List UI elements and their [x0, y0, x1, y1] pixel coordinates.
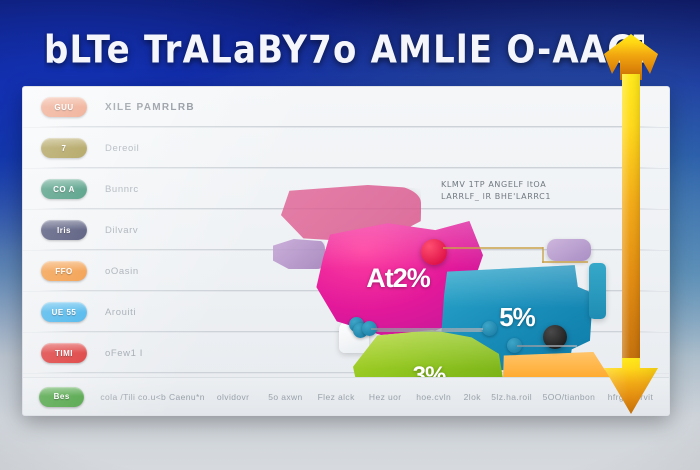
list-item-label: Arouiti — [105, 307, 136, 318]
connector-line — [363, 330, 483, 332]
row-badge-icon: Iris — [41, 220, 87, 240]
crimson-dot-marker — [421, 239, 447, 265]
footer-cell: 5o axwn — [268, 392, 317, 402]
footer-cell: hoe.cvln — [416, 392, 463, 402]
list-item-label: oFew1 I — [105, 348, 143, 359]
footer-cell: cola /Tili co.u<b Caenu*n — [100, 392, 216, 402]
blob-value-teal: 5% — [499, 302, 535, 333]
annotation-line-2: LARRLF_ lR BHE'LARRC1 — [441, 191, 611, 203]
footer-cell: 5lz.ha.roil — [491, 392, 542, 402]
card-footer: Bes cola /Tili co.u<b Caenu*n olvidovr 5… — [23, 377, 669, 415]
connector-line — [443, 247, 543, 249]
footer-cell: 5OO/tianbon — [543, 392, 608, 402]
list-item-label: Bunnrc — [105, 184, 139, 195]
row-badge-icon: FFO — [41, 261, 87, 281]
list-item-label: oOasin — [105, 266, 139, 277]
row-badge-icon: CO A — [41, 179, 87, 199]
main-card-panel: GUU XILE PAMRLRB 7 Dereoil CO A Bunnrc I… — [22, 86, 670, 416]
footer-cell: Hez uor — [369, 392, 416, 402]
blob-value-pink: At2% — [366, 263, 430, 294]
row-badge-icon: GUU — [41, 97, 87, 117]
row-badge-icon: TIMI — [41, 343, 87, 363]
row-divider — [37, 126, 659, 127]
lavender-shape-left — [273, 239, 325, 269]
connector-line — [542, 261, 588, 263]
row-badge-icon: UE 55 — [41, 302, 87, 322]
footer-cell: hfrgn rorvit — [608, 392, 669, 402]
list-item[interactable]: GUU XILE PAMRLRB — [23, 87, 669, 128]
annotation-line-1: KLMV 1TP ANGELF ltOA — [441, 179, 611, 191]
connector-dot[interactable] — [482, 321, 497, 336]
list-item[interactable]: 7 Dereoil — [23, 128, 669, 169]
teal-bar-shape — [589, 263, 606, 319]
footer-cell: olvidovr — [217, 392, 268, 402]
row-badge-icon: 7 — [41, 138, 87, 158]
connector-line — [517, 345, 577, 347]
footer-cell: 2lok — [464, 392, 492, 402]
footer-cell: Flez alck — [318, 392, 369, 402]
page-title: bLTe TrALaBY7o AMLlE O-AACTN — [44, 28, 644, 82]
list-item-label: Dilvarv — [105, 225, 138, 236]
row-divider — [37, 167, 659, 168]
chart-annotation: KLMV 1TP ANGELF ltOA LARRLF_ lR BHE'LARR… — [441, 179, 611, 202]
lavender-shape-right — [547, 239, 591, 261]
connector-line — [371, 328, 483, 330]
list-item[interactable]: MBEI nSian — [23, 415, 669, 416]
list-item-label: XILE PAMRLRB — [105, 102, 195, 113]
footer-badge-icon: Bes — [39, 387, 84, 407]
list-item-label: Dereoil — [105, 143, 139, 154]
